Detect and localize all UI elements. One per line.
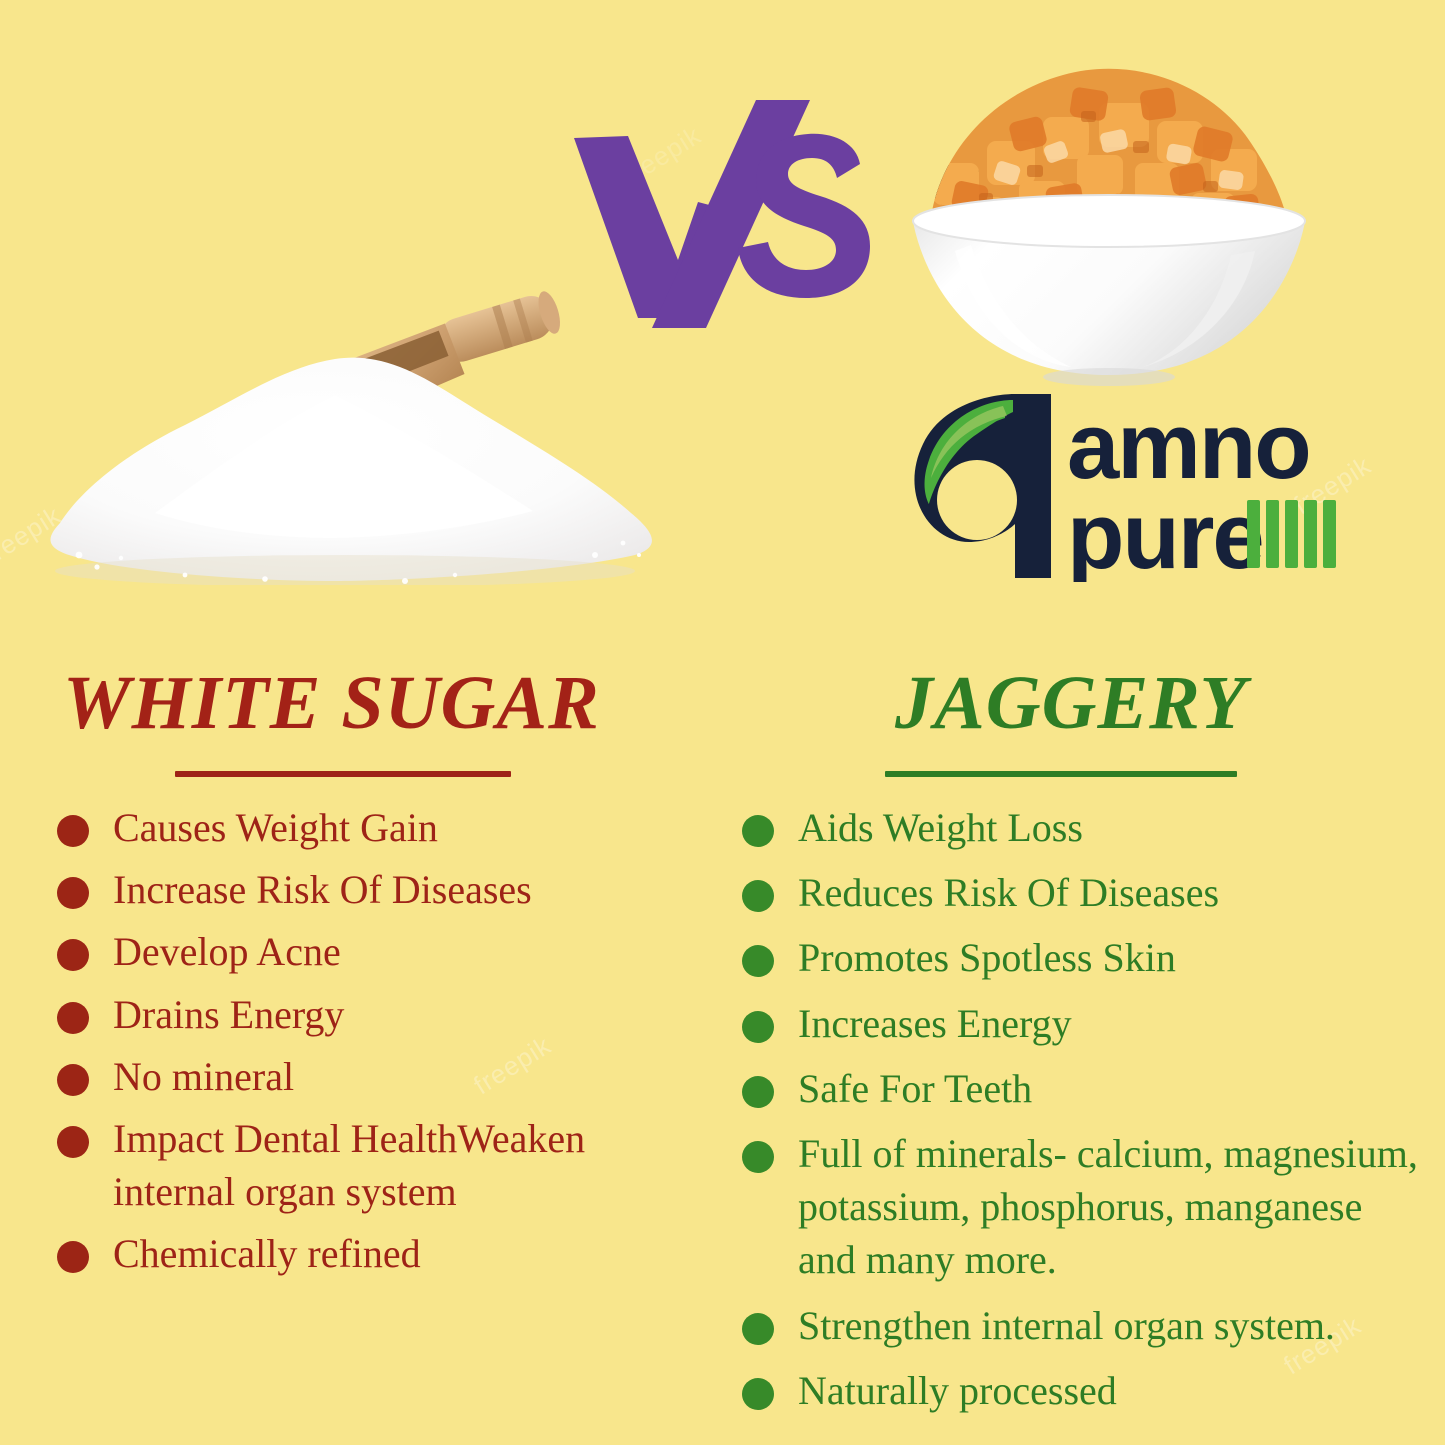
list-item: Increases Energy xyxy=(730,997,1420,1050)
list-item: Aids Weight Loss xyxy=(730,801,1420,854)
jaggery-list: Aids Weight Loss Reduces Risk Of Disease… xyxy=(730,801,1420,1417)
list-item: Develop Acne xyxy=(45,925,685,978)
list-item: Causes Weight Gain xyxy=(45,801,685,854)
jaggery-bowl-image xyxy=(895,45,1325,395)
list-item: No mineral xyxy=(45,1050,685,1103)
infographic-canvas: freepik freepik freepik freepik freepik xyxy=(0,0,1445,1445)
list-item: Reduces Risk Of Diseases xyxy=(730,866,1420,919)
list-item: Chemically refined xyxy=(45,1227,685,1280)
white-sugar-column: WHITE SUGAR Causes Weight Gain Increase … xyxy=(45,665,685,1290)
jaggery-title: JAGGERY xyxy=(730,665,1420,741)
logo-wordmark-line2: pure xyxy=(1067,483,1263,582)
list-item: Full of minerals- calcium, magnesium, po… xyxy=(730,1127,1420,1287)
list-item: Promotes Spotless Skin xyxy=(730,931,1420,984)
white-sugar-title-rule xyxy=(175,771,511,777)
logo-leaf-a-mark xyxy=(914,394,1051,578)
list-item: Impact Dental HealthWeaken internal orga… xyxy=(45,1112,685,1218)
list-item: Drains Energy xyxy=(45,988,685,1041)
list-item: Increase Risk Of Diseases xyxy=(45,863,685,916)
list-item: Safe For Teeth xyxy=(730,1062,1420,1115)
white-sugar-title: WHITE SUGAR xyxy=(45,665,685,741)
jaggery-column: JAGGERY Aids Weight Loss Reduces Risk Of… xyxy=(730,665,1420,1429)
brand-logo: amno pure xyxy=(885,382,1345,582)
versus-badge xyxy=(560,92,890,332)
white-sugar-list: Causes Weight Gain Increase Risk Of Dise… xyxy=(45,801,685,1281)
jaggery-title-rule xyxy=(885,771,1237,777)
list-item: Strengthen internal organ system. xyxy=(730,1299,1420,1352)
list-item: Naturally processed xyxy=(730,1364,1420,1417)
